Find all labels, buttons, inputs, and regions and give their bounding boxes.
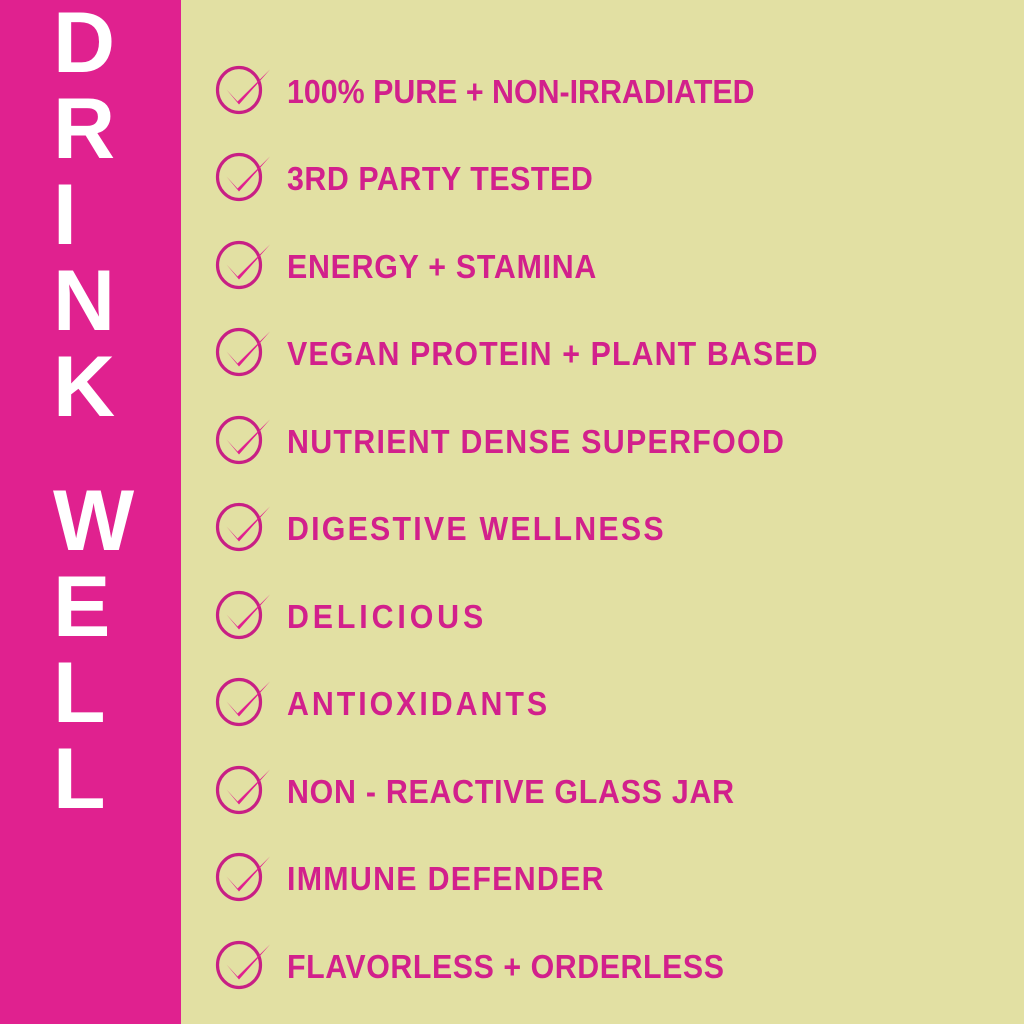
- check-circle-icon: [215, 63, 273, 117]
- check-circle-icon: [215, 413, 273, 467]
- benefits-list: 100% PURE + NON-IRRADIATED 3RD PARTY TES…: [181, 0, 1024, 1024]
- list-item: IMMUNE DEFENDER: [181, 836, 1024, 924]
- list-item-label: FLAVORLESS + ORDERLESS: [287, 950, 725, 984]
- list-item: DIGESTIVE WELLNESS: [181, 486, 1024, 574]
- list-item-label: DIGESTIVE WELLNESS: [287, 512, 666, 546]
- brand-letter-d: D: [53, 0, 115, 86]
- brand-letter-r: R: [53, 86, 115, 172]
- list-item: NON - REACTIVE GLASS JAR: [181, 748, 1024, 836]
- list-item-label: NON - REACTIVE GLASS JAR: [287, 775, 735, 809]
- brand-letter-w: W: [53, 478, 134, 564]
- check-circle-icon: [215, 938, 273, 992]
- check-circle-icon: [215, 500, 273, 554]
- brand-letter-i: I: [53, 172, 77, 258]
- list-item-label: IMMUNE DEFENDER: [287, 862, 605, 896]
- list-item-label: DELICIOUS: [287, 600, 487, 634]
- brand-letter-k: K: [53, 344, 115, 430]
- list-item: VEGAN PROTEIN + PLANT BASED: [181, 311, 1024, 399]
- check-circle-icon: [215, 238, 273, 292]
- check-circle-icon: [215, 325, 273, 379]
- list-item: NUTRIENT DENSE SUPERFOOD: [181, 398, 1024, 486]
- list-item-label: ANTIOXIDANTS: [287, 687, 550, 721]
- poster-canvas: D R I N K W E L L 100% PURE + NON-IRRADI…: [0, 0, 1024, 1024]
- check-circle-icon: [215, 588, 273, 642]
- check-circle-icon: [215, 850, 273, 904]
- brand-letter-e: E: [53, 564, 110, 650]
- list-item: ENERGY + STAMINA: [181, 223, 1024, 311]
- check-circle-icon: [215, 763, 273, 817]
- list-item-label: 100% PURE + NON-IRRADIATED: [287, 75, 755, 109]
- brand-letter-n: N: [53, 258, 115, 344]
- check-circle-icon: [215, 675, 273, 729]
- list-item-label: 3RD PARTY TESTED: [287, 162, 593, 196]
- list-item-label: ENERGY + STAMINA: [287, 250, 597, 284]
- brand-letter-l1: L: [53, 650, 106, 736]
- list-item: 100% PURE + NON-IRRADIATED: [181, 48, 1024, 136]
- list-item-label: NUTRIENT DENSE SUPERFOOD: [287, 425, 785, 459]
- list-item: 3RD PARTY TESTED: [181, 136, 1024, 224]
- check-circle-icon: [215, 150, 273, 204]
- list-item: DELICIOUS: [181, 573, 1024, 661]
- list-item: FLAVORLESS + ORDERLESS: [181, 923, 1024, 1011]
- brand-panel: D R I N K W E L L: [0, 0, 181, 1024]
- list-item: ANTIOXIDANTS: [181, 661, 1024, 749]
- brand-vertical-wordmark: D R I N K W E L L: [0, 0, 181, 1024]
- list-item-label: VEGAN PROTEIN + PLANT BASED: [287, 337, 819, 371]
- brand-letter-l2: L: [53, 736, 106, 822]
